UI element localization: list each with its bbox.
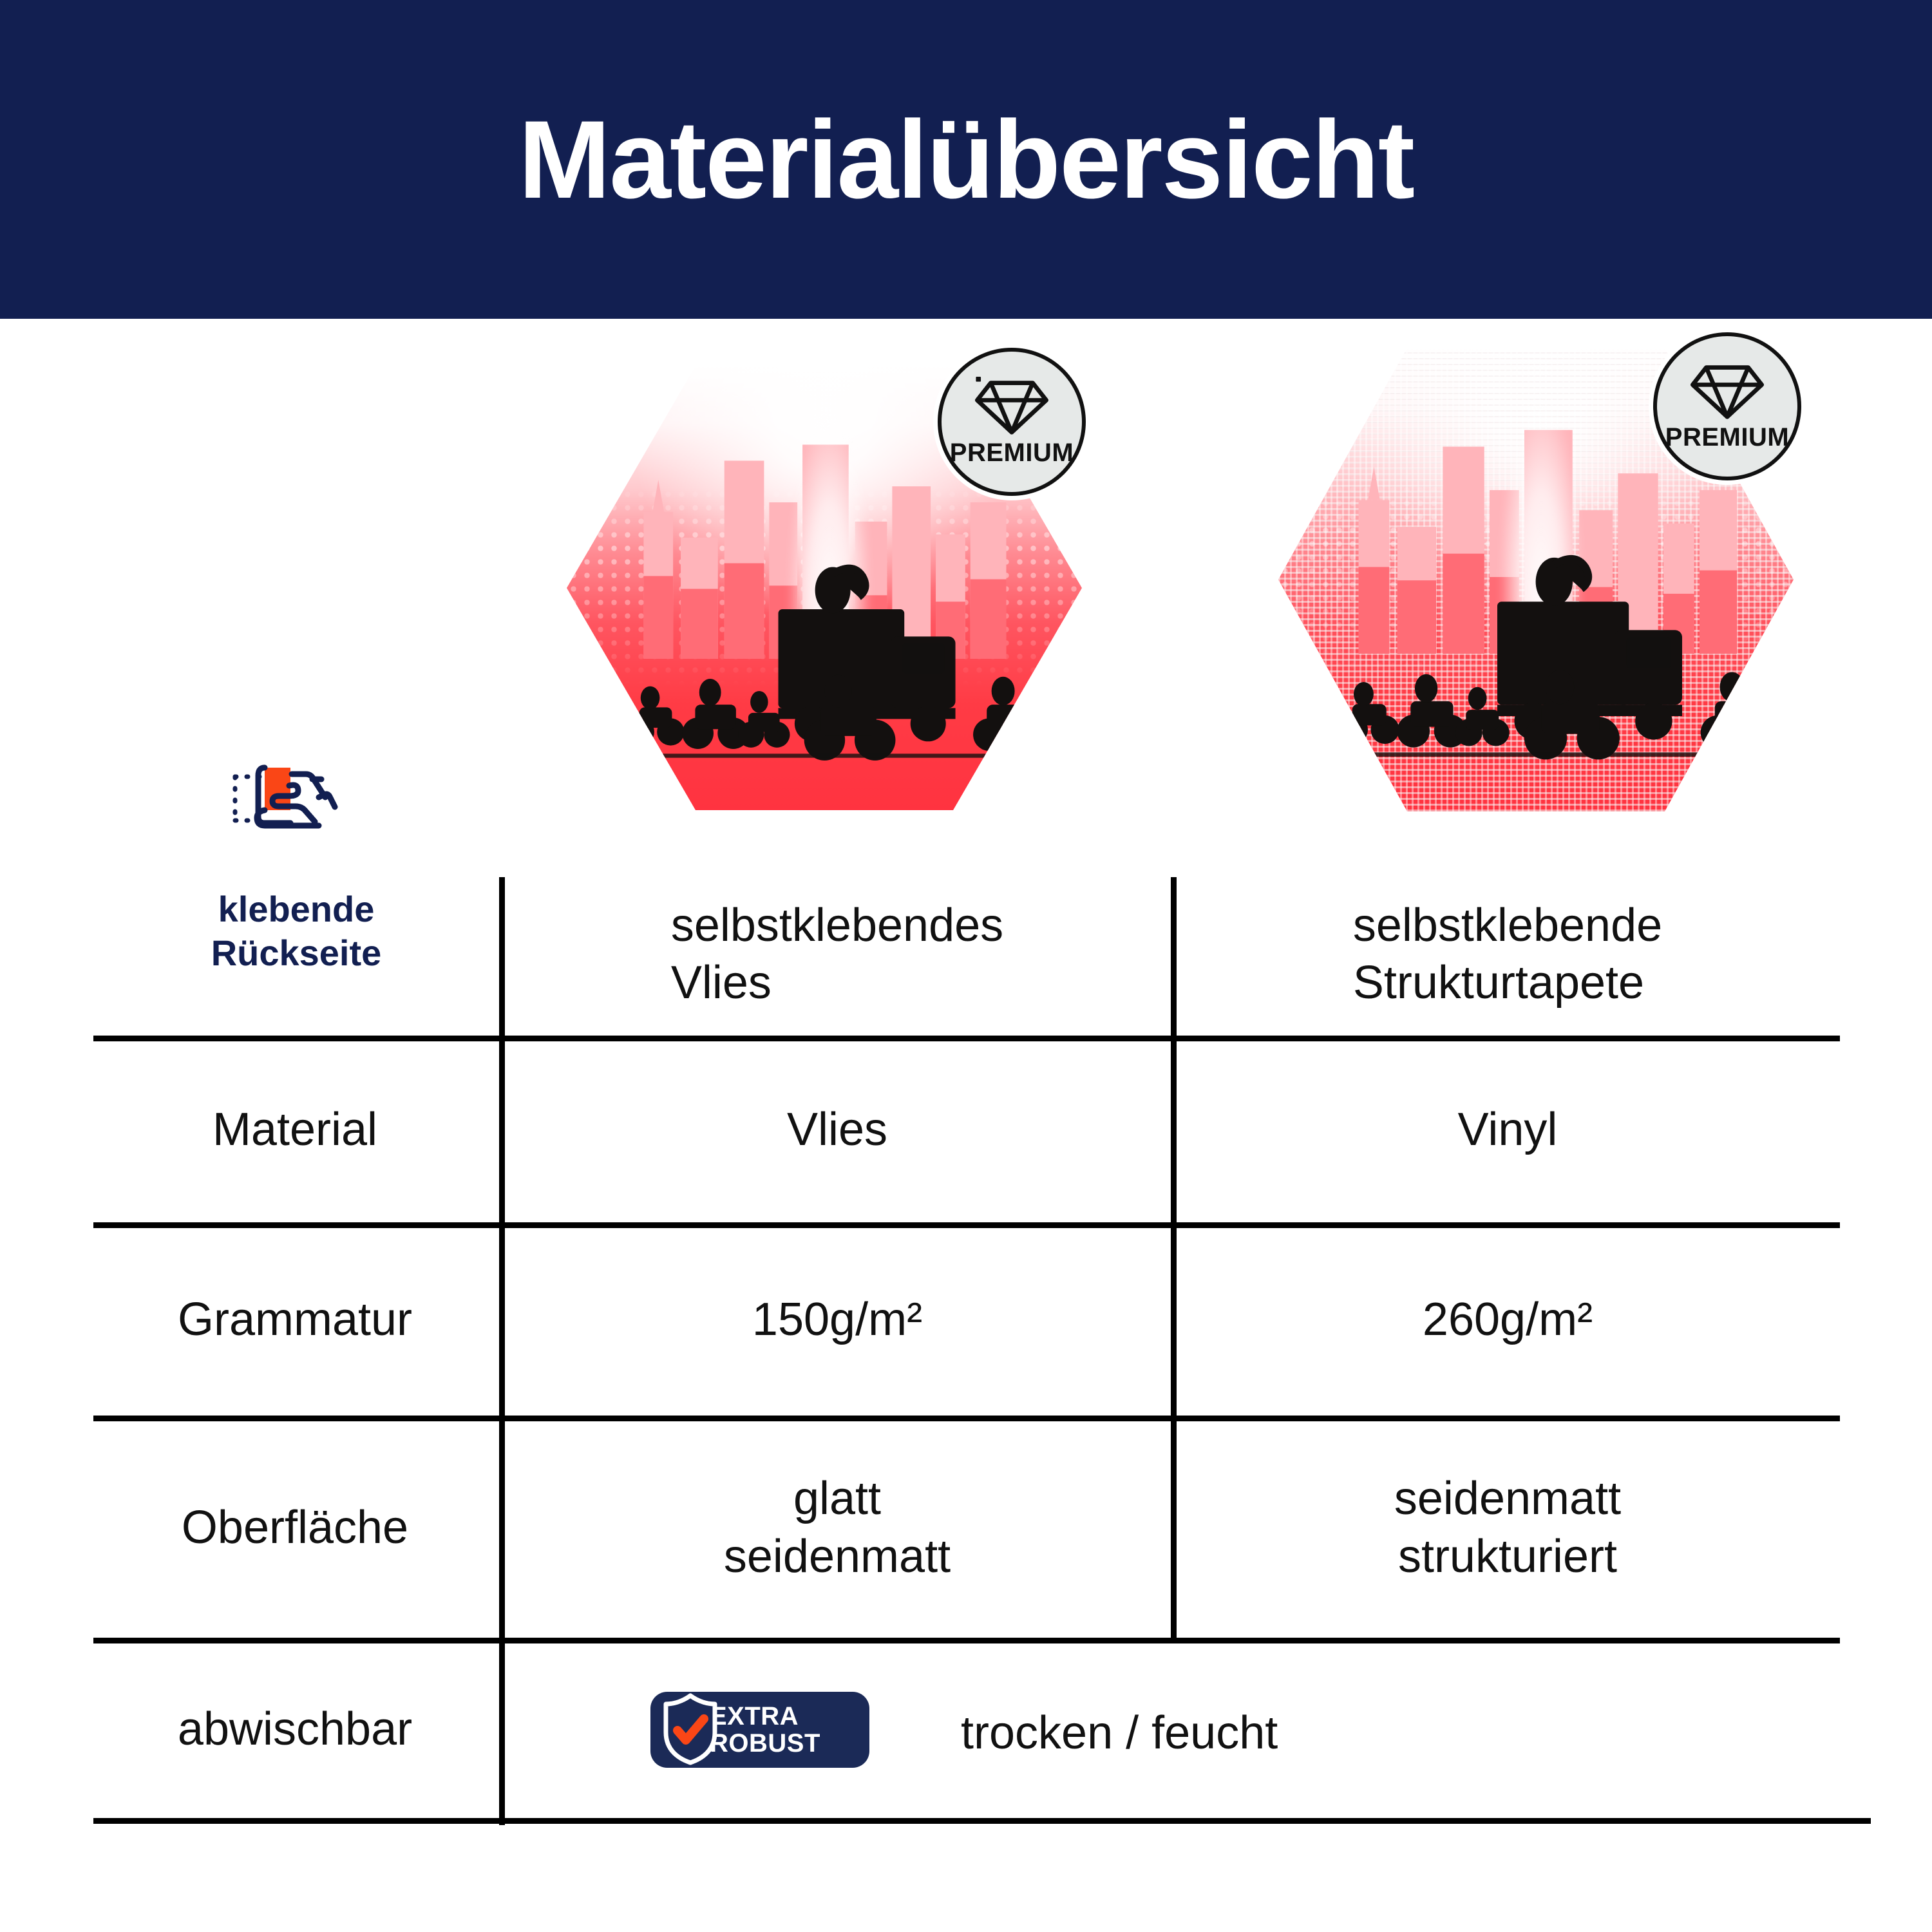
sticky-back-caption: klebende Rückseite bbox=[211, 887, 382, 976]
column-header-2-line1: selbstklebende bbox=[1353, 897, 1662, 954]
table-cell-abwischbar-value: trocken / feucht bbox=[961, 1707, 1278, 1759]
peel-sticker-hand-icon bbox=[222, 760, 370, 876]
table-cell-oberflaeche-col2: seidenmatt strukturiert bbox=[1179, 1421, 1837, 1634]
column-header-1-line2: Vlies bbox=[671, 954, 1003, 1012]
shield-check-icon bbox=[662, 1693, 719, 1765]
table-cell-material-col1: Vlies bbox=[509, 1041, 1166, 1219]
table-column-divider-2 bbox=[1171, 877, 1177, 1641]
sticky-back-caption-line1: klebende bbox=[211, 887, 382, 931]
table-column-divider-1 bbox=[499, 877, 505, 1825]
material-comparison-table: klebende Rückseite selbstklebendes Vlies… bbox=[0, 0, 1932, 1932]
table-column-header-1: selbstklebendes Vlies bbox=[509, 877, 1166, 1032]
table-rule-4 bbox=[93, 1638, 1840, 1643]
table-row-label-material: Material bbox=[93, 1041, 497, 1219]
oberflaeche-col2-line1: seidenmatt bbox=[1394, 1470, 1621, 1528]
table-row-label-grammatur: Grammatur bbox=[93, 1228, 497, 1412]
table-row-label-oberflaeche: Oberfläche bbox=[93, 1421, 497, 1634]
table-column-header-2: selbstklebende Strukturtapete bbox=[1179, 877, 1837, 1032]
column-header-2-line2: Strukturtapete bbox=[1353, 954, 1662, 1012]
oberflaeche-col2-line2: strukturiert bbox=[1394, 1528, 1621, 1586]
extra-robust-line2: ROBUST bbox=[710, 1730, 820, 1757]
sticky-back-caption-line2: Rückseite bbox=[211, 931, 382, 975]
table-cell-grammatur-col1: 150g/m² bbox=[509, 1228, 1166, 1412]
oberflaeche-col1-line2: seidenmatt bbox=[724, 1528, 951, 1586]
table-row-label-abwischbar: abwischbar bbox=[93, 1643, 497, 1816]
sticky-back-feature: klebende Rückseite bbox=[93, 760, 499, 1018]
oberflaeche-col1-line1: glatt bbox=[724, 1470, 951, 1528]
table-rule-2 bbox=[93, 1222, 1840, 1228]
table-cell-material-col2: Vinyl bbox=[1179, 1041, 1837, 1219]
material-overview-page: Materialübersicht bbox=[0, 0, 1932, 1932]
table-rule-3 bbox=[93, 1416, 1840, 1421]
table-rule-1 bbox=[93, 1036, 1840, 1041]
table-rule-bottom bbox=[93, 1818, 1871, 1824]
extra-robust-line1: EXTRA bbox=[710, 1703, 820, 1730]
extra-robust-badge: EXTRA ROBUST bbox=[650, 1692, 869, 1768]
table-cell-oberflaeche-col1: glatt seidenmatt bbox=[509, 1421, 1166, 1634]
column-header-1-line1: selbstklebendes bbox=[671, 897, 1003, 954]
table-cell-grammatur-col2: 260g/m² bbox=[1179, 1228, 1837, 1412]
